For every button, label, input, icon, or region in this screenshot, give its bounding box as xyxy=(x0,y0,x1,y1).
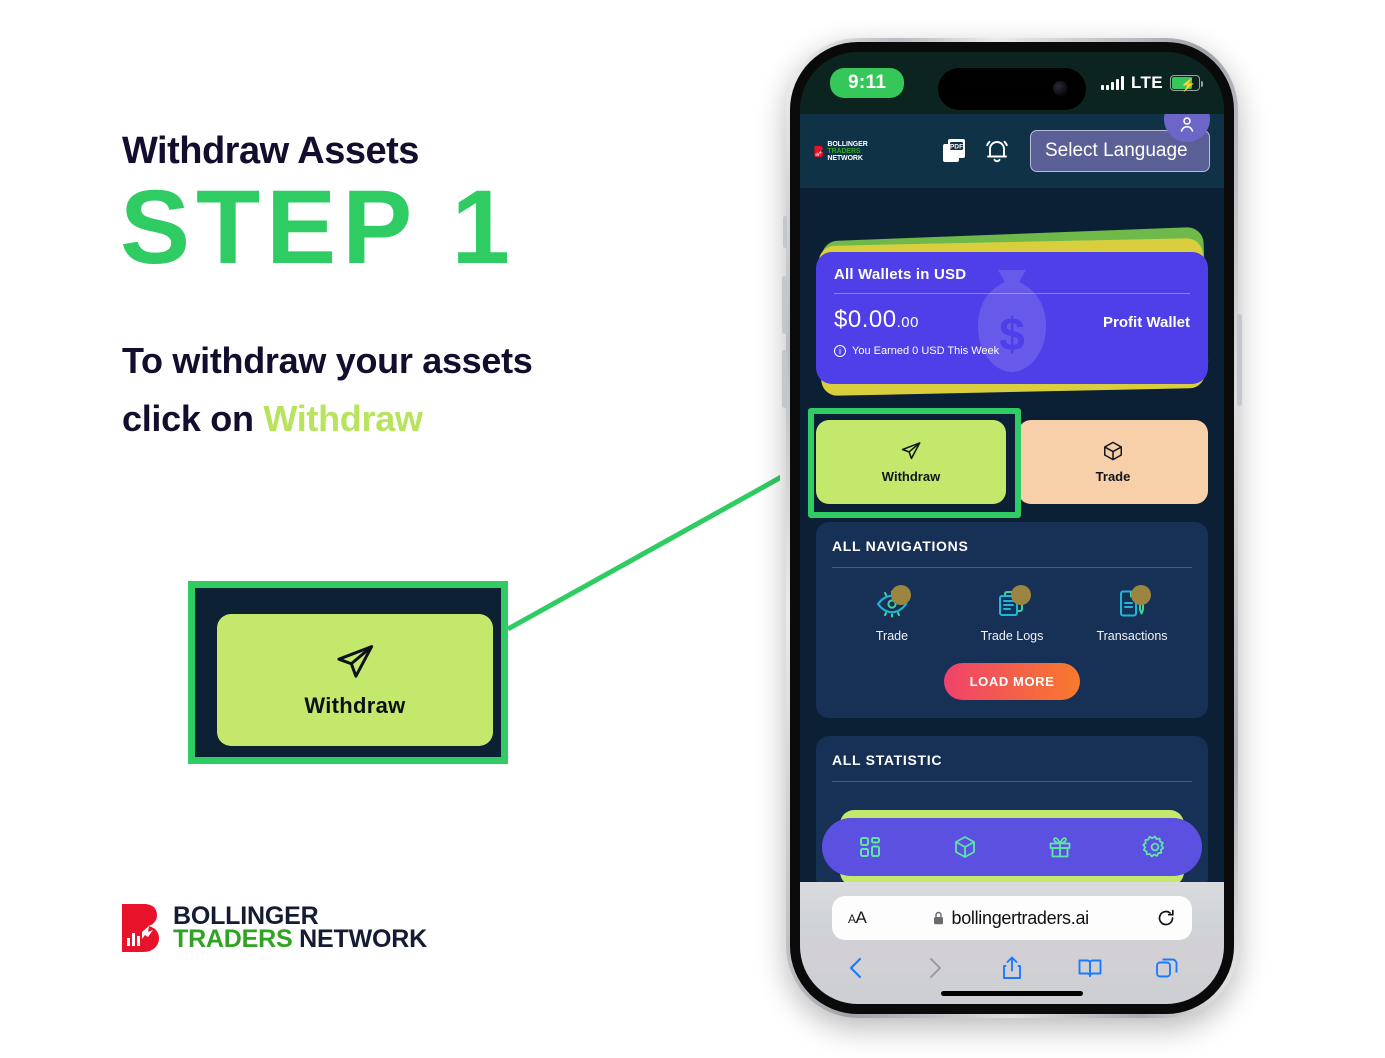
wallet-card[interactable]: $ All Wallets in USD $0.00.00 Profit Wal… xyxy=(816,252,1208,384)
app-logo-network: NETWORK xyxy=(827,155,862,162)
wallet-card-divider xyxy=(834,293,1190,294)
withdraw-callout-label: Withdraw xyxy=(304,693,405,719)
page-title: STEP 1 xyxy=(120,175,516,280)
load-more-button[interactable]: LOAD MORE xyxy=(944,663,1081,700)
bollinger-b-mark-icon-small xyxy=(814,143,824,160)
statistic-card-area xyxy=(832,800,1192,882)
send-icon xyxy=(900,440,922,462)
app-logo[interactable]: BOLLINGER TRADERS NETWORK xyxy=(814,141,876,162)
icon-accent-circle xyxy=(1131,585,1151,605)
navigation-items: Trade Trade Logs xyxy=(832,586,1192,643)
wallet-amount-cents: .00 xyxy=(897,314,919,331)
eyebrow-heading: Withdraw Assets xyxy=(122,130,419,173)
icon-accent-circle xyxy=(1011,585,1031,605)
text-size-small-a: A xyxy=(848,912,856,926)
brand-traders-word: TRADERS xyxy=(173,925,292,953)
trade-button[interactable]: Trade xyxy=(1018,420,1208,504)
safari-bottom-bar: AA bollingertraders.ai xyxy=(800,882,1224,1004)
safari-url-text: bollingertraders.ai xyxy=(951,908,1088,929)
nav-item-trade-logs[interactable]: Trade Logs xyxy=(953,586,1072,643)
all-navigations-title: ALL NAVIGATIONS xyxy=(832,538,1192,554)
trade-button-label: Trade xyxy=(1096,469,1131,484)
wallet-earnings-note: i You Earned 0 USD This Week xyxy=(834,345,1190,357)
back-chevron-icon[interactable] xyxy=(844,955,870,981)
tabs-icon[interactable] xyxy=(1154,955,1180,981)
all-statistic-panel: ALL STATISTIC xyxy=(816,736,1208,882)
slide-canvas: Withdraw Assets STEP 1 To withdraw your … xyxy=(0,0,1385,1058)
dynamic-island xyxy=(938,68,1086,110)
forward-chevron-icon xyxy=(921,955,947,981)
wallet-card-amount-row: $0.00.00 Profit Wallet xyxy=(834,306,1190,334)
send-icon xyxy=(334,641,376,683)
instruction-panel: Withdraw Assets STEP 1 To withdraw your … xyxy=(0,0,780,1058)
withdraw-callout-button[interactable]: Withdraw xyxy=(217,614,493,746)
wallet-type-label: Profit Wallet xyxy=(1103,314,1190,331)
nav-item-trade[interactable]: Trade xyxy=(833,586,952,643)
eye-icon-wrap xyxy=(875,586,909,620)
lock-icon xyxy=(933,911,944,925)
instruction-text: To withdraw your assets click on Withdra… xyxy=(122,332,722,449)
battery-charging-icon: ⚡ xyxy=(1170,75,1200,91)
power-button[interactable] xyxy=(1237,314,1242,406)
nav-item-transactions[interactable]: Transactions xyxy=(1073,586,1192,643)
withdraw-callout-zoom: Withdraw xyxy=(188,581,508,764)
action-buttons-row: Withdraw Trade xyxy=(816,420,1208,504)
all-statistic-title: ALL STATISTIC xyxy=(832,752,1192,768)
instruction-line-1: To withdraw your assets xyxy=(122,340,533,381)
brand-logo: BOLLINGER TRADERS NETWORK xyxy=(120,902,427,954)
signal-bars-icon xyxy=(1101,76,1124,90)
app-logo-wordmark: BOLLINGER TRADERS NETWORK xyxy=(827,141,876,162)
all-navigations-panel: ALL NAVIGATIONS xyxy=(816,522,1208,718)
instruction-line-2-prefix: click on xyxy=(122,398,263,439)
brand-wordmark: BOLLINGER TRADERS NETWORK xyxy=(173,905,427,952)
wallet-amount-main: $0.00 xyxy=(834,306,897,333)
brand-network-word: NETWORK xyxy=(292,925,427,953)
app-logo-traders: TRADERS xyxy=(827,148,860,155)
text-size-large-a: A xyxy=(856,908,867,927)
app-content: $ All Wallets in USD $0.00.00 Profit Wal… xyxy=(800,188,1224,882)
app-logo-line-1: BOLLINGER xyxy=(827,141,876,148)
home-indicator xyxy=(941,991,1083,996)
bell-icon[interactable] xyxy=(984,137,1010,165)
grid-icon[interactable] xyxy=(857,834,883,860)
brand-line-2: TRADERS NETWORK xyxy=(173,928,427,952)
panel-divider xyxy=(832,567,1192,568)
status-clock: 9:11 xyxy=(830,68,904,98)
wallet-amount: $0.00.00 xyxy=(834,306,919,334)
phone-screen: 9:11 LTE ⚡ xyxy=(800,52,1224,1004)
phone-mockup: 9:11 LTE ⚡ xyxy=(786,38,1238,1018)
user-avatar-icon xyxy=(1177,115,1197,135)
gift-icon[interactable] xyxy=(1047,834,1073,860)
app-logo-line-2: TRADERS NETWORK xyxy=(827,148,876,162)
withdraw-button[interactable]: Withdraw xyxy=(816,420,1006,504)
cube-icon[interactable] xyxy=(952,834,978,860)
safari-address-bar[interactable]: AA bollingertraders.ai xyxy=(832,896,1192,940)
bollinger-b-mark-icon xyxy=(120,902,164,954)
pdf-icon[interactable]: PDF xyxy=(942,137,970,165)
wallet-card-title: All Wallets in USD xyxy=(834,266,1190,283)
withdraw-button-label: Withdraw xyxy=(882,469,940,484)
share-icon[interactable] xyxy=(999,955,1025,981)
wallet-earnings-text: You Earned 0 USD This Week xyxy=(852,345,999,357)
bookmarks-icon[interactable] xyxy=(1077,955,1103,981)
instruction-highlight: Withdraw xyxy=(263,398,422,439)
wallet-card-stack: $ All Wallets in USD $0.00.00 Profit Wal… xyxy=(816,240,1208,400)
document-pen-icon-wrap xyxy=(1115,586,1149,620)
info-circle-icon: i xyxy=(834,345,846,357)
nav-label-trade-logs: Trade Logs xyxy=(981,629,1044,643)
nav-label-transactions: Transactions xyxy=(1096,629,1167,643)
header-icon-group: PDF xyxy=(942,137,1010,165)
nav-label-trade: Trade xyxy=(876,629,908,643)
document-lines-icon-wrap xyxy=(995,586,1029,620)
text-size-button[interactable]: AA xyxy=(848,908,866,928)
app-header: BOLLINGER TRADERS NETWORK PDF xyxy=(800,114,1224,188)
floating-tab-bar xyxy=(822,818,1202,876)
safari-toolbar xyxy=(800,948,1224,988)
safari-url-group: bollingertraders.ai xyxy=(866,908,1156,929)
volume-up-button[interactable] xyxy=(782,276,787,334)
network-type-label: LTE xyxy=(1131,73,1163,93)
cube-icon xyxy=(1102,440,1124,462)
silent-switch[interactable] xyxy=(783,216,787,248)
gear-icon[interactable] xyxy=(1142,834,1168,860)
status-indicators: LTE ⚡ xyxy=(1101,73,1200,93)
svg-text:PDF: PDF xyxy=(950,144,963,151)
reload-icon[interactable] xyxy=(1156,908,1176,928)
front-camera xyxy=(1053,81,1068,96)
icon-accent-circle xyxy=(891,585,911,605)
panel-divider xyxy=(832,781,1192,782)
volume-down-button[interactable] xyxy=(782,350,787,408)
